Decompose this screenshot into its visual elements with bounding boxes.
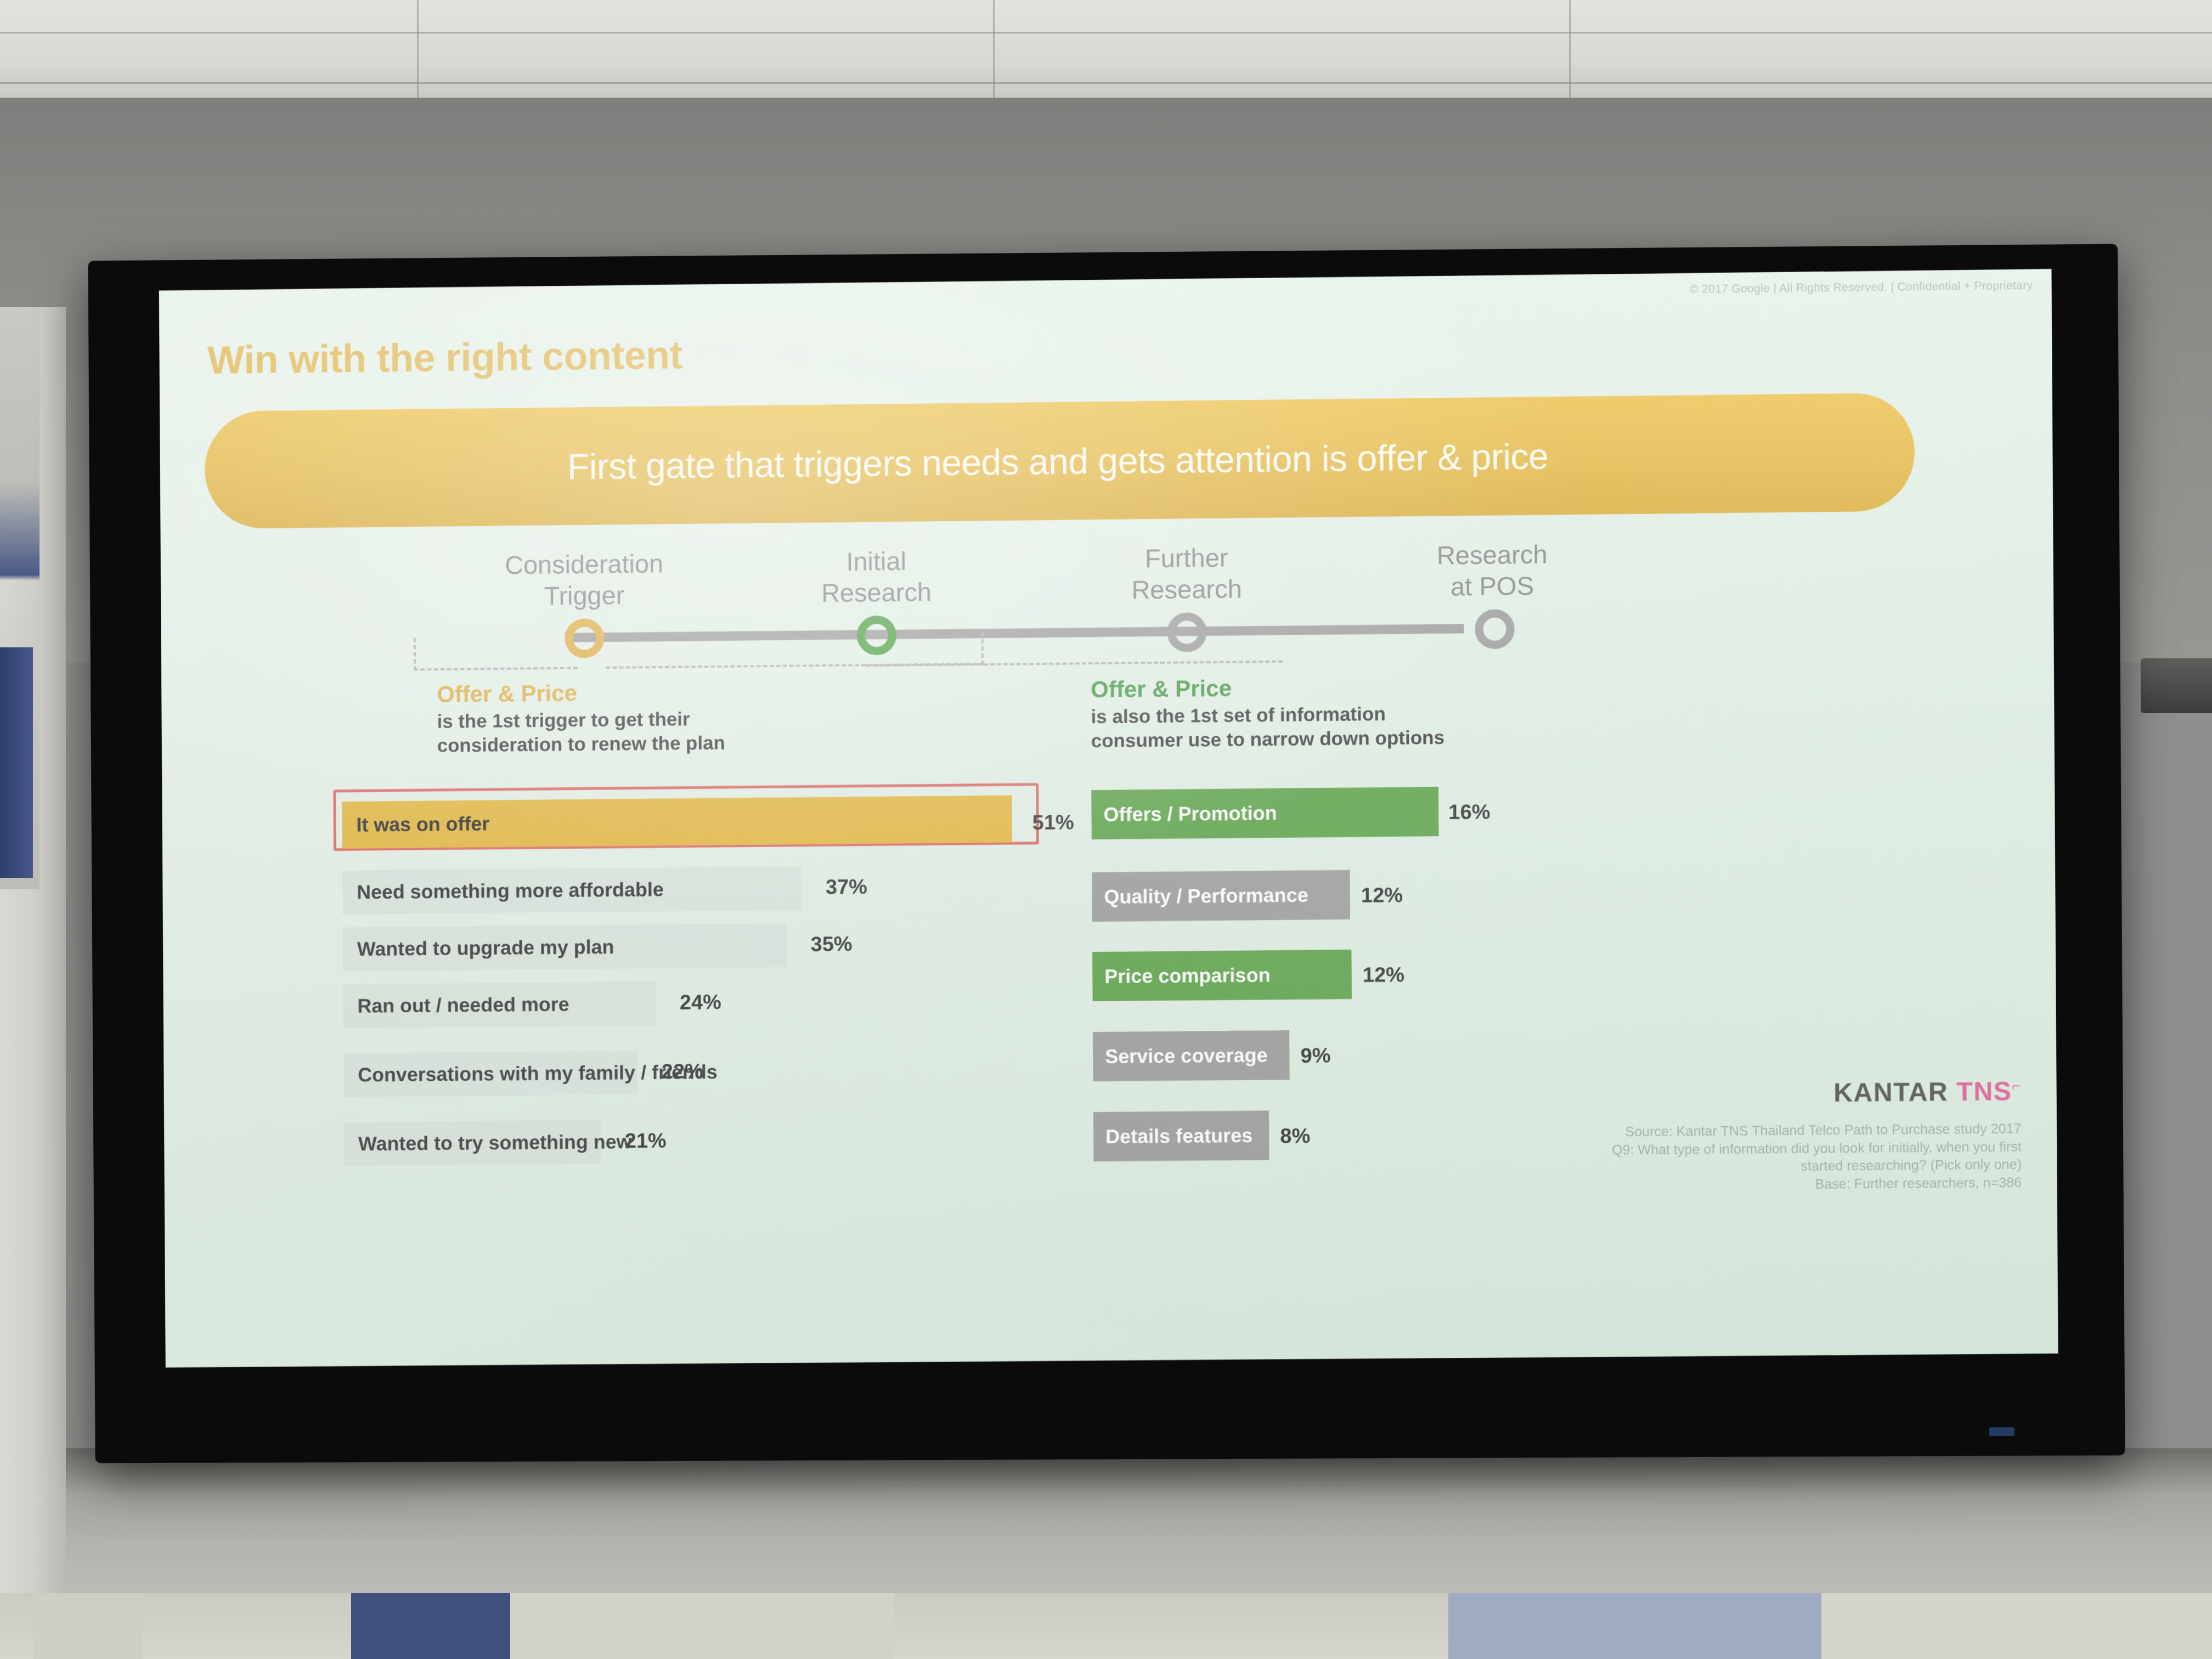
timeline-stage-1-line1: Initial [761,544,991,578]
timeline-stage-label-2: Further Research [1071,541,1302,606]
bar-fill: Need something more affordable [342,866,802,914]
bar-fill: Details features [1093,1111,1269,1162]
bar-fill: Quality / Performance [1092,870,1350,922]
connector-dashed-left [414,636,578,671]
bar-value: 12% [1361,884,1403,908]
bar-label: Offers / Promotion [1091,802,1277,826]
bar-value: 12% [1363,963,1404,988]
floor [0,1593,2212,1659]
bar-value: 16% [1448,800,1491,825]
annotation-left-heading: Offer & Price [437,679,725,708]
floor-tile [510,1593,894,1659]
bar-fill: Offers / Promotion [1091,787,1438,839]
logo-mark-icon: ⌐ [2012,1077,2021,1094]
bar-label: Need something more affordable [342,878,664,904]
bar-label: Details features [1093,1124,1253,1148]
chart-bar-row: Offers / Promotion 16% [1091,785,1641,873]
bar-value: 51% [1032,811,1074,836]
bar-label: It was on offer [342,812,490,837]
bar-value: 24% [680,991,721,1015]
bar-label: Wanted to upgrade my plan [343,935,614,961]
chart-bar-row: Conversations with my family / friends 2… [343,1044,1066,1119]
copyright-notice: © 2017 Google | All Rights Reserved. | C… [1690,279,2033,296]
wall-mounted-device [2141,658,2212,713]
ceiling [0,0,2212,99]
logo-kantar-text: KANTAR [1833,1077,1949,1108]
floor-tile [33,1593,143,1659]
connector-dashed-middle [606,632,984,669]
kantar-tns-logo: KANTAR TNS⌐ [1833,1076,2021,1108]
chart-bar-row: Ran out / needed more 24% [343,975,1065,1050]
presentation-slide: © 2017 Google | All Rights Reserved. | C… [159,269,2058,1367]
timeline-stage-1-line2: Research [761,575,992,610]
bar-fill: Service coverage [1093,1030,1290,1081]
logo-tns-text: TNS [1956,1077,2012,1107]
headline-banner-text: First gate that triggers needs and gets … [529,435,1587,488]
bar-value: 37% [826,876,867,900]
chart-bar-row: It was on offer 51% [342,791,1064,867]
chart-bar-row: Need something more affordable 37% [342,861,1065,924]
timeline-stage-0-line2: Trigger [470,579,699,612]
annotation-left-line1: is the 1st trigger to get their [437,707,725,734]
timeline-stage-label-0: Consideration Trigger [469,548,699,613]
timeline-node-further-research[interactable] [1167,612,1206,652]
page-title: Win with the right content [207,333,682,383]
annotation-right-heading: Offer & Price [1091,673,1444,703]
bar-label: Quality / Performance [1092,884,1308,909]
bar-value: 35% [810,933,852,957]
timeline-stage-label-3: Research at POS [1376,538,1608,603]
headline-banner: First gate that triggers needs and gets … [205,393,1915,529]
annotation-right: Offer & Price is also the 1st set of inf… [1091,673,1444,754]
bar-fill: Wanted to try something new [344,1120,601,1166]
chart-bar-row: Price comparison 12% [1092,947,1643,1032]
chart-bar-row: Wanted to try something new 21% [344,1113,1066,1176]
chart-bar-row: Service coverage 9% [1093,1028,1643,1113]
bar-label: Service coverage [1093,1043,1268,1068]
annotation-right-line2: consumer use to narrow down options [1091,726,1445,753]
bar-value: 8% [1280,1125,1310,1148]
bar-label: Price comparison [1092,963,1271,988]
annotation-left-line2: consideration to renew the plan [437,731,725,758]
floor-tile [351,1593,510,1659]
chart-bar-row: Quality / Performance 12% [1092,867,1642,952]
power-led [1989,1427,2015,1436]
bar-fill: It was on offer [342,795,1012,849]
bar-fill: Price comparison [1092,950,1352,1001]
timeline-stage-2-line1: Further [1071,541,1302,575]
annotation-right-line1: is also the 1st set of information [1091,702,1444,729]
bar-label: Conversations with my family / friends [343,1060,717,1087]
timeline-node-research-at-pos[interactable] [1475,609,1515,649]
timeline-stage-3-line1: Research [1376,538,1608,572]
source-line-4: Base: Further researchers, n=386 [1470,1173,2022,1196]
floor-tile [1448,1593,1821,1659]
chart-consideration-triggers: It was on offer 51% Need something more … [342,791,1066,1176]
timeline-stage-2-line2: Research [1071,573,1302,607]
source-footnote: Source: Kantar TNS Thailand Telco Path t… [1470,1120,2022,1195]
blue-wall-panel [0,647,33,878]
timeline-stage-label-1: Initial Research [761,544,991,610]
bar-fill: Ran out / needed more [343,981,656,1028]
bar-fill: Conversations with my family / friends [343,1051,637,1097]
timeline-stage-0-line1: Consideration [469,548,699,582]
chart-bar-row: Wanted to upgrade my plan 35% [343,918,1065,981]
display-screen: © 2017 Google | All Rights Reserved. | C… [88,244,2125,1464]
bar-value: 9% [1300,1044,1330,1068]
floor-tile [1821,1593,2212,1659]
annotation-left: Offer & Price is the 1st trigger to get … [437,679,725,758]
bar-label: Wanted to try something new [344,1130,631,1155]
bar-fill: Wanted to upgrade my plan [343,923,787,971]
timeline-stage-3-line2: at POS [1376,569,1608,603]
bar-label: Ran out / needed more [343,993,569,1018]
